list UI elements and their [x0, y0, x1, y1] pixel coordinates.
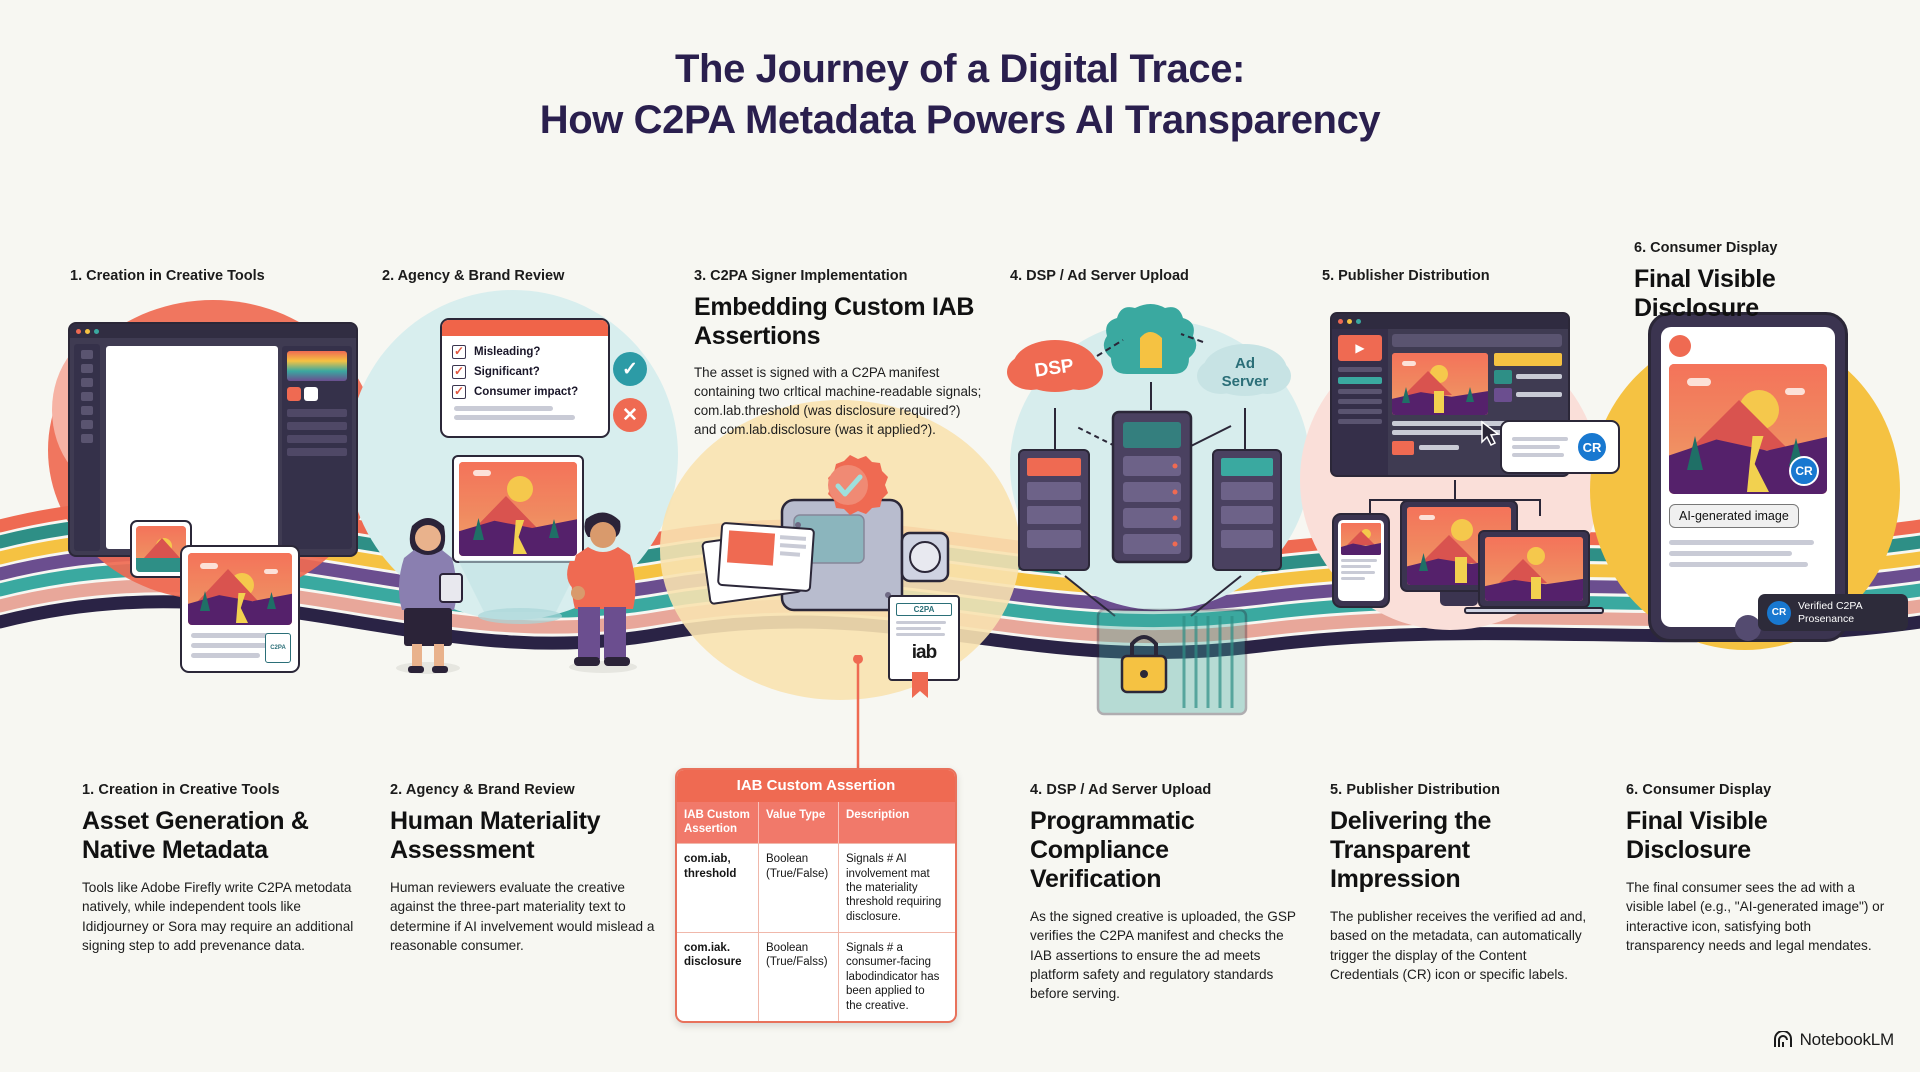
verified-provenance-tooltip: CR Verified C2PA Prosenance — [1758, 594, 1908, 631]
step-3-body-top: The asset is signed with a C2PA manifest… — [694, 363, 986, 439]
step-1-body: Tools like Adobe Firefly write C2PA meto… — [82, 878, 354, 955]
window-dot-teal — [1356, 319, 1361, 324]
content-credentials-popover[interactable]: CR — [1500, 420, 1620, 474]
ad-server-label-line1: Ad — [1235, 355, 1255, 372]
publisher-laptop-device — [1478, 530, 1590, 608]
avatar — [1669, 335, 1691, 357]
step-6-top-block: 6. Consumer Display Final Visible Disclo… — [1634, 240, 1864, 323]
tool-icon[interactable] — [81, 406, 93, 415]
iab-org-label: iab — [896, 642, 952, 664]
step-4-top-label: 4. DSP / Ad Server Upload — [1010, 268, 1260, 284]
manifest-c2pa-label: C2PA — [896, 603, 952, 616]
desktop-stand — [1440, 592, 1478, 606]
checkbox-checked-icon[interactable]: ✓ — [452, 365, 466, 379]
step-6-headline-top: Final Visible Disclosure — [1634, 265, 1864, 323]
publisher-phone-device — [1332, 513, 1390, 608]
step-2-eyebrow-top: 2. Agency & Brand Review — [382, 268, 632, 284]
step-3-top-block: 3. C2PA Signer Implementation Embedding … — [694, 268, 986, 439]
checklist-label: Significant? — [474, 366, 540, 378]
step-4-text-block: 4. DSP / Ad Server Upload Programmatic C… — [1030, 782, 1300, 1003]
step-5-body: The publisher receives the verified ad a… — [1330, 907, 1592, 984]
cr-badge-icon[interactable]: CR — [1789, 456, 1819, 486]
step-3-eyebrow-top: 3. C2PA Signer Implementation — [694, 268, 986, 284]
notebooklm-wordmark: NotebookLM — [1800, 1030, 1894, 1050]
step-3-headline-top: Embedding Custom IAB Assertions — [694, 293, 986, 351]
tooltip-line-1: Verified C2PA — [1798, 600, 1863, 613]
step-2-text-block: 2. Agency & Brand Review Human Materiali… — [390, 782, 658, 955]
table-header-row: IAB Custom Assertion Value Type Descript… — [677, 802, 955, 843]
tool-icon[interactable] — [81, 378, 93, 387]
browser-address-bar[interactable] — [1392, 334, 1562, 347]
signed-asset-sheets — [700, 510, 840, 620]
step-2-top-label: 2. Agency & Brand Review — [382, 268, 632, 284]
color-swatch[interactable] — [287, 351, 347, 381]
step1-editor-window — [68, 322, 358, 557]
table-row: com.iak. disclosure Boolean (True/Falss)… — [677, 932, 955, 1021]
notebooklm-logo-icon — [1772, 1031, 1793, 1049]
play-icon[interactable]: ▶ — [1338, 335, 1382, 361]
c2pa-manifest-icon: C2PA — [265, 633, 291, 663]
cell-value-type: Boolean (True/Falss) — [759, 933, 839, 1021]
manifest-ribbon-icon — [906, 672, 942, 702]
reject-button[interactable]: ✕ — [613, 398, 647, 432]
step-5-eyebrow: 5. Publisher Distribution — [1330, 782, 1592, 798]
step-5-eyebrow-top: 5. Publisher Distribution — [1322, 268, 1572, 284]
step-5-text-block: 5. Publisher Distribution Delivering the… — [1330, 782, 1592, 984]
step-6-headline: Final Visible Disclosure — [1626, 807, 1888, 865]
cell-assertion: com.iak. disclosure — [677, 933, 759, 1021]
ad-server-label-line2: Server — [1222, 373, 1269, 390]
reviewer-person-left — [378, 500, 478, 675]
title-line-2: How C2PA Metadata Powers AI Transparency — [0, 95, 1920, 146]
checklist-item[interactable]: ✓ Significant? — [442, 362, 608, 382]
window-dot-red — [76, 329, 81, 334]
checklist-label: Consumer impact? — [474, 386, 578, 398]
title-line-1: The Journey of a Digital Trace: — [0, 44, 1920, 95]
tooltip-line-2: Prosenance — [1798, 613, 1863, 626]
page-title: The Journey of a Digital Trace: How C2PA… — [0, 44, 1920, 146]
step-6-text-block: 6. Consumer Display Final Visible Disclo… — [1626, 782, 1888, 955]
cell-description: Signals # AI involvement mat the materia… — [839, 844, 949, 932]
layer-thumb[interactable] — [304, 387, 318, 401]
infographic-canvas: The Journey of a Digital Trace: How C2PA… — [0, 0, 1920, 1072]
step-2-body: Human reviewers evaluate the creative ag… — [390, 878, 658, 955]
step-1-eyebrow-top: 1. Creation in Creative Tools — [70, 268, 320, 284]
step-5-headline: Delivering the Transparent Impression — [1330, 807, 1592, 894]
table-title: IAB Custom Assertion — [677, 770, 955, 802]
reviewer-person-right — [548, 495, 658, 675]
compliance-lock-gateway — [1088, 600, 1258, 720]
window-dot-teal — [94, 329, 99, 334]
step-4-eyebrow-top: 4. DSP / Ad Server Upload — [1010, 268, 1260, 284]
cell-description: Signals # a consumer-facing labodindicat… — [839, 933, 949, 1021]
step-5-top-label: 5. Publisher Distribution — [1322, 268, 1572, 284]
checklist-item[interactable]: ✓ Misleading? — [442, 342, 608, 362]
approve-button[interactable]: ✓ — [613, 352, 647, 386]
tool-icon[interactable] — [81, 420, 93, 429]
step1-asset-card: C2PA — [180, 545, 300, 673]
window-dot-yellow — [1347, 319, 1352, 324]
layer-thumb[interactable] — [287, 387, 301, 401]
cr-badge-icon: CR — [1767, 601, 1791, 625]
step-6-eyebrow-top: 6. Consumer Display — [1634, 240, 1864, 256]
checklist-label: Misleading? — [474, 346, 540, 358]
consumer-ad-creative[interactable]: CR — [1669, 364, 1827, 494]
window-dot-red — [1338, 319, 1343, 324]
tool-icon[interactable] — [81, 392, 93, 401]
tool-icon[interactable] — [81, 434, 93, 443]
tool-icon[interactable] — [81, 350, 93, 359]
step-1-eyebrow: 1. Creation in Creative Tools — [82, 782, 354, 798]
c2pa-manifest-document: C2PA iab — [888, 595, 960, 681]
step-4-headline: Programmatic Compliance Verification — [1030, 807, 1300, 894]
window-dot-yellow — [85, 329, 90, 334]
checkbox-checked-icon[interactable]: ✓ — [452, 345, 466, 359]
notebooklm-footer: NotebookLM — [1772, 1030, 1894, 1050]
step-4-body: As the signed creative is uploaded, the … — [1030, 907, 1300, 1003]
table-connector-line — [850, 655, 866, 775]
materiality-checklist-panel: ✓ Misleading? ✓ Significant? ✓ Consumer … — [440, 318, 610, 438]
checkbox-checked-icon[interactable]: ✓ — [452, 385, 466, 399]
checklist-item[interactable]: ✓ Consumer impact? — [442, 382, 608, 402]
cell-value-type: Boolean (True/False) — [759, 844, 839, 932]
table-header-description: Description — [839, 802, 949, 843]
step-6-body: The final consumer sees the ad with a vi… — [1626, 878, 1888, 955]
table-header-value-type: Value Type — [759, 802, 839, 843]
step-2-headline: Human Materiality Assessment — [390, 807, 658, 865]
cell-assertion: com.iab, threshold — [677, 844, 759, 932]
tool-icon[interactable] — [81, 364, 93, 373]
step-1-top-label: 1. Creation in Creative Tools — [70, 268, 320, 284]
step-1-headline: Asset Generation & Native Metadata — [82, 807, 354, 865]
cr-badge-icon[interactable]: CR — [1576, 431, 1608, 463]
step-2-eyebrow: 2. Agency & Brand Review — [390, 782, 658, 798]
iab-custom-assertion-table: IAB Custom Assertion IAB Custom Assertio… — [675, 768, 957, 1023]
laptop-base — [1464, 607, 1604, 614]
step-6-eyebrow: 6. Consumer Display — [1626, 782, 1888, 798]
step-1-text-block: 1. Creation in Creative Tools Asset Gene… — [82, 782, 354, 955]
table-header-assertion: IAB Custom Assertion — [677, 802, 759, 843]
ad-creative-thumbnail[interactable] — [1392, 353, 1488, 415]
consumer-phone: CR AI-generated image — [1648, 312, 1848, 642]
table-row: com.iab, threshold Boolean (True/False) … — [677, 843, 955, 932]
step-4-eyebrow: 4. DSP / Ad Server Upload — [1030, 782, 1300, 798]
ai-generated-label[interactable]: AI-generated image — [1669, 504, 1799, 528]
